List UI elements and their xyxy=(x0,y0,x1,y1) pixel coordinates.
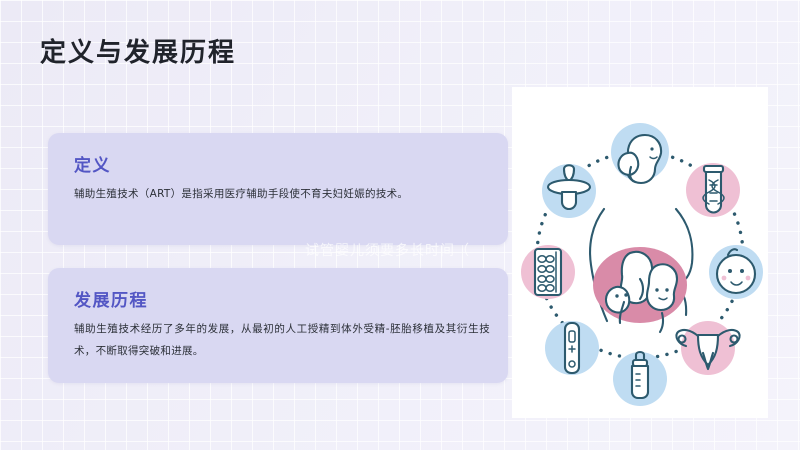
fetus-icon xyxy=(611,123,669,183)
pacifier-icon xyxy=(542,164,596,218)
page-title: 定义与发展历程 xyxy=(40,32,236,69)
slide-canvas: 定义与发展历程 定义 辅助生殖技术（ART）是指采用医疗辅助手段使不育夫妇妊娠的… xyxy=(0,0,800,450)
pill-blister-icon xyxy=(521,245,575,299)
definition-card[interactable]: 定义 辅助生殖技术（ART）是指采用医疗辅助手段使不育夫妇妊娠的技术。 xyxy=(48,133,508,245)
card-body-text: 辅助生殖技术（ART）是指采用医疗辅助手段使不育夫妇妊娠的技术。 xyxy=(74,183,490,205)
baby-face-icon xyxy=(709,245,763,299)
history-card[interactable]: 发展历程 辅助生殖技术经历了多年的发展，从最初的人工授精到体外受精‑胚胎移植及其… xyxy=(48,268,508,383)
baby-bottle-icon xyxy=(613,352,667,406)
card-body-text: 辅助生殖技术经历了多年的发展，从最初的人工授精到体外受精‑胚胎移植及其衍生技术，… xyxy=(74,318,490,362)
pregnancy-test-icon xyxy=(545,321,599,375)
card-heading: 发展历程 xyxy=(74,286,148,311)
dna-test-tube-icon xyxy=(686,163,740,217)
fertility-illustration-panel: .st{fill:none;stroke:#2d5a6e;stroke-widt… xyxy=(512,87,768,418)
twins-in-womb xyxy=(590,209,692,332)
uterus-icon xyxy=(676,321,739,375)
card-heading: 定义 xyxy=(74,151,111,176)
